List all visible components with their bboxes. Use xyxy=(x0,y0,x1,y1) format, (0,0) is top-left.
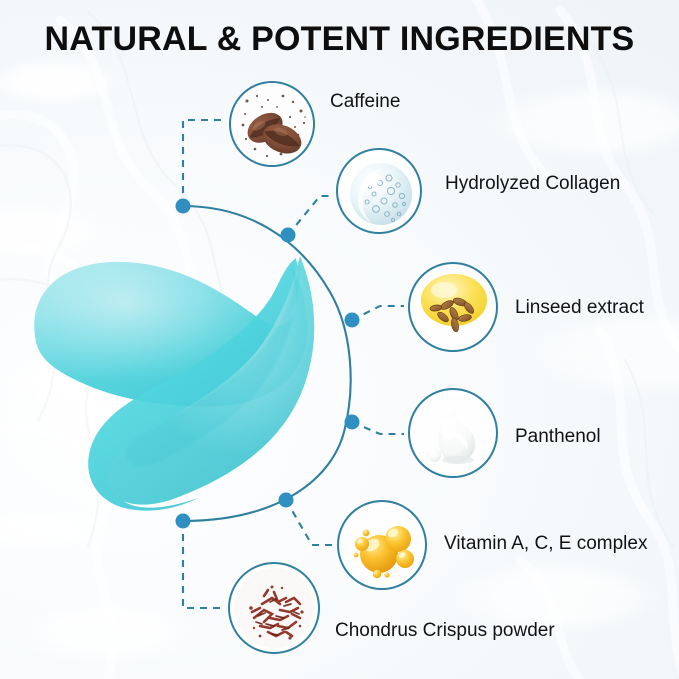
cream-drop-icon xyxy=(414,394,492,472)
ingredient-circle-panthenol[interactable] xyxy=(408,388,498,478)
ingredient-label-chondrus-crispus-powder: Chondrus Crispus powder xyxy=(335,621,555,640)
connector-nodes xyxy=(176,199,360,529)
ingredient-label-hydrolyzed-collagen: Hydrolyzed Collagen xyxy=(445,174,620,193)
red-algae-icon xyxy=(234,568,314,648)
coffee-beans-icon xyxy=(235,87,309,161)
ingredient-label-panthenol: Panthenol xyxy=(515,427,601,446)
ingredient-circle-vitamin-complex[interactable] xyxy=(337,500,427,590)
flax-seeds-icon xyxy=(414,268,492,346)
ingredient-circle-hydrolyzed-collagen[interactable] xyxy=(336,148,422,234)
node-panthenol xyxy=(345,415,360,430)
ingredient-circle-caffeine[interactable] xyxy=(229,81,315,167)
node-chondrus xyxy=(176,514,191,529)
connector-arc xyxy=(183,206,351,521)
ingredient-label-caffeine: Caffeine xyxy=(330,92,400,111)
branch-panthenol xyxy=(352,422,404,434)
ingredient-label-vitamin-complex: Vitamin A, C, E complex xyxy=(444,534,647,553)
ingredient-label-linseed-extract: Linseed extract xyxy=(515,298,644,317)
ingredient-circle-linseed-extract[interactable] xyxy=(408,262,498,352)
branch-hydrolyzed-collagen xyxy=(288,196,332,235)
branch-caffeine xyxy=(183,120,222,206)
branch-linseed-extract xyxy=(352,306,404,320)
branch-chondrus-crispus xyxy=(183,521,226,608)
ingredient-circle-chondrus-crispus-powder[interactable] xyxy=(228,562,320,654)
infographic-poster: NATURAL & POTENT INGREDIENTS xyxy=(0,0,679,679)
collagen-droplet-icon xyxy=(342,154,416,228)
branch-vitamin-complex xyxy=(286,500,334,545)
node-vitamin xyxy=(279,493,294,508)
node-caffeine xyxy=(176,199,191,214)
node-collagen xyxy=(281,228,296,243)
vitamin-bubbles-icon xyxy=(343,506,421,584)
node-linseed xyxy=(345,313,360,328)
